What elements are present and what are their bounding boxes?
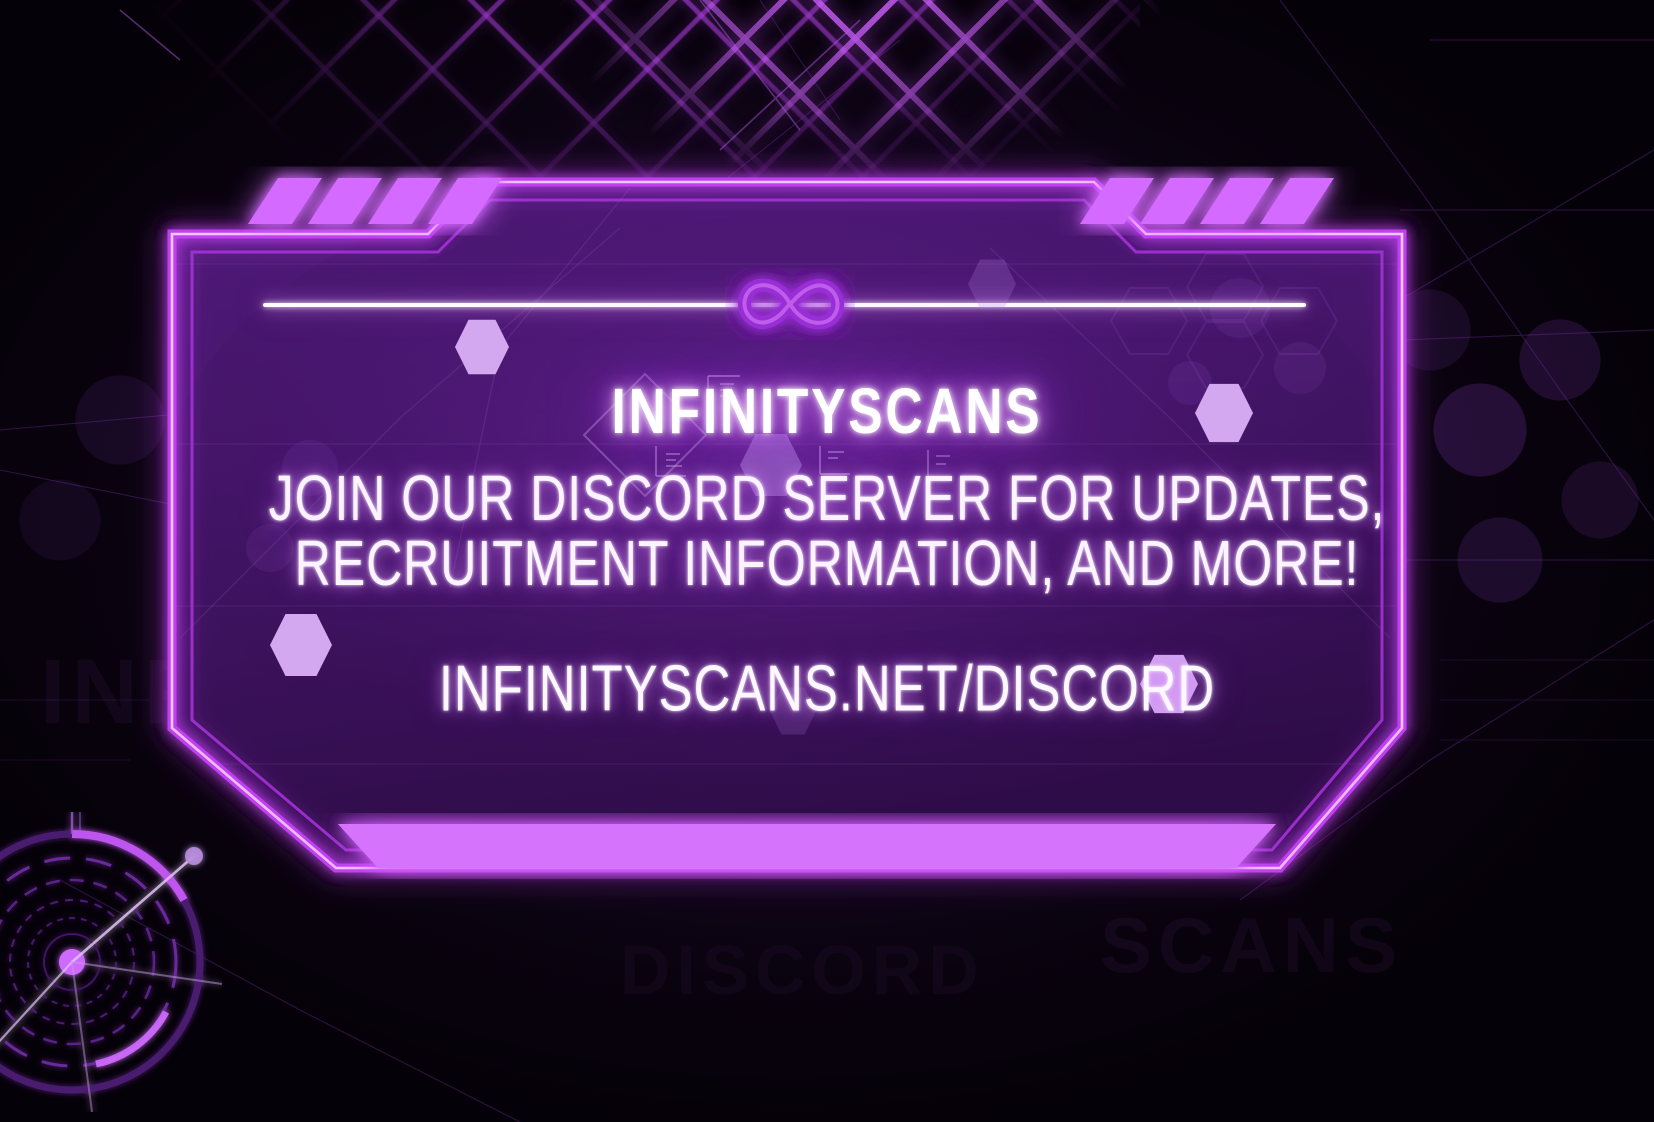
hash-left <box>248 178 502 224</box>
discord-url-link[interactable]: INFINITYSCANS.NET/DISCORD <box>99 651 1555 726</box>
page-title: INFINITYSCANS <box>66 373 1588 448</box>
tagline-line-1: JOIN OUR DISCORD SERVER FOR UPDATES, <box>99 463 1555 536</box>
banner-text-block: INFINITYSCANS JOIN OUR DISCORD SERVER FO… <box>0 378 1654 722</box>
hash-right <box>1080 178 1334 224</box>
infinity-icon <box>725 268 855 340</box>
tagline-line-2: RECRUITMENT INFORMATION, AND MORE! <box>99 528 1555 601</box>
banner-stage: INFINITY SCANS DISCORD <box>0 0 1654 1122</box>
